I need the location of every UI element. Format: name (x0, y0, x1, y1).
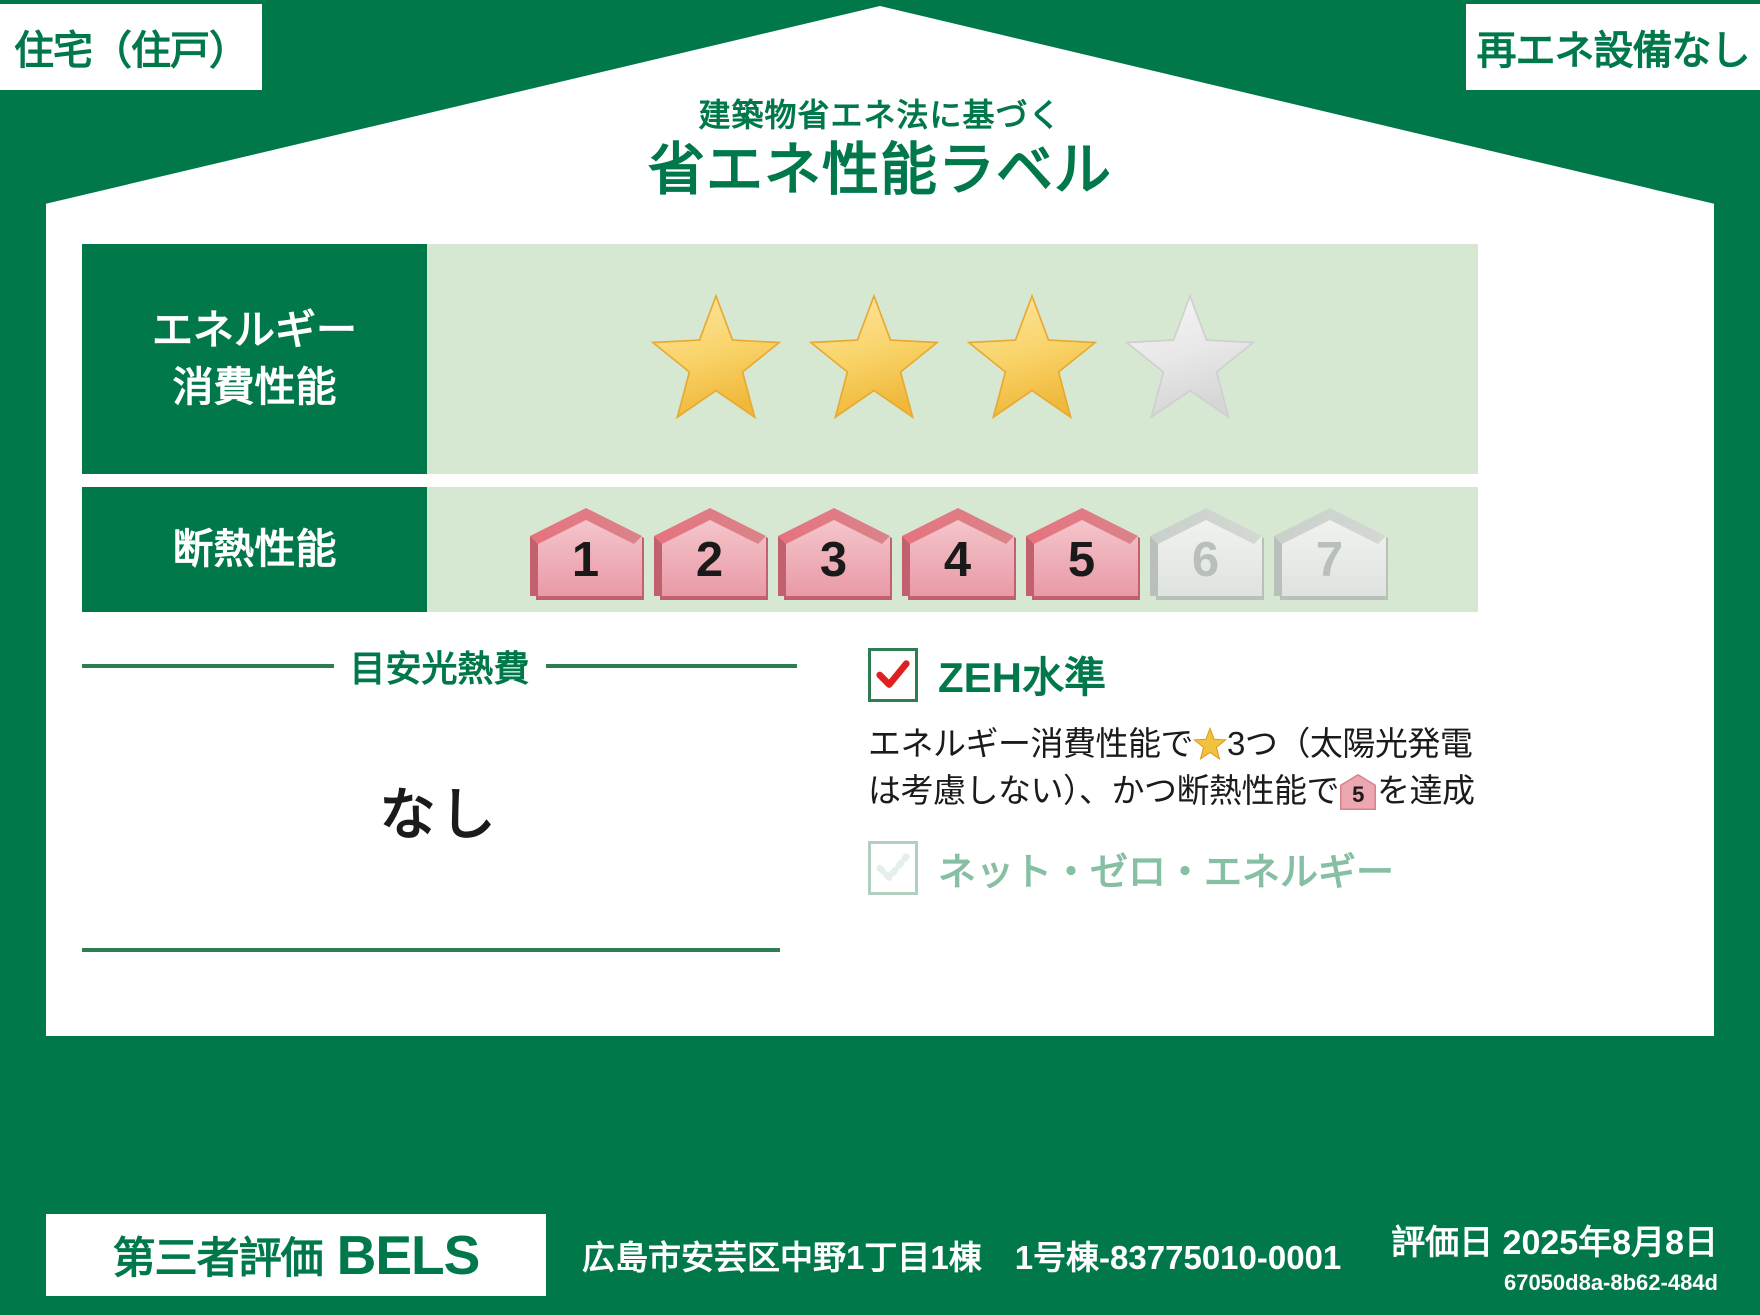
insulation-house-active: 3 (770, 500, 898, 600)
zeh-standard-row: ZEH水準 (868, 644, 1488, 705)
estimated-cost-label: 目安光熱費 (350, 640, 530, 692)
insulation-house-active: 4 (894, 500, 1022, 600)
zeh-desc-part3: を達成 (1377, 772, 1475, 809)
inline-house-icon: 5 (1339, 774, 1377, 810)
zeh-desc-part1: エネルギー消費性能で (868, 725, 1193, 762)
net-zero-energy-row: ネット・ゼロ・エネルギー (868, 841, 1488, 896)
footer-bar: 第三者評価 BELS 広島市安芸区中野1丁目1棟 1号棟-83775010-00… (0, 1195, 1760, 1315)
zeh-checkbox[interactable] (868, 648, 918, 702)
insulation-house-inactive: 7 (1266, 500, 1394, 600)
rating-rows: エネルギー 消費性能 断熱性能 1234567 (82, 244, 1478, 625)
insulation-house-inactive: 6 (1142, 500, 1270, 600)
zeh-standard-label: ZEH水準 (938, 644, 1106, 705)
bels-jp-label: 第三者評価 (113, 1224, 323, 1286)
property-address: 広島市安芸区中野1丁目1棟 1号棟-83775010-0001 (582, 1231, 1341, 1279)
header: 建築物省エネ法に基づく 省エネ性能ラベル (0, 98, 1760, 201)
page-title: 省エネ性能ラベル (0, 141, 1760, 201)
star-icon-filled (646, 289, 786, 429)
energy-performance-row: エネルギー 消費性能 (82, 244, 1478, 474)
estimated-utility-cost-section: 目安光熱費 なし (82, 640, 797, 851)
bels-en-label: BELS (337, 1223, 480, 1287)
badge-renewable-label: 再エネ設備なし (1477, 18, 1750, 76)
star-icon-filled (962, 289, 1102, 429)
evaluation-id: 67050d8a-8b62-484d (1391, 1270, 1718, 1296)
cost-section-bottom-rule (82, 948, 780, 952)
zeh-description: エネルギー消費性能で3つ（太陽光発電は考慮しない）、かつ断熱性能で5を達成 (868, 721, 1488, 815)
star-icon-filled (804, 289, 944, 429)
net-zero-energy-checkbox[interactable] (868, 841, 918, 895)
star-icon-empty (1120, 289, 1260, 429)
insulation-grades-panel: 1234567 (427, 487, 1478, 612)
energy-stars-panel (427, 244, 1478, 474)
checkmark-icon-unchecked (874, 849, 912, 887)
insulation-grade-number: 2 (646, 500, 774, 600)
insulation-grade-number: 3 (770, 500, 898, 600)
energy-performance-label: エネルギー 消費性能 (82, 244, 427, 474)
header-subtitle: 建築物省エネ法に基づく (0, 98, 1760, 133)
insulation-grade-number: 5 (1018, 500, 1146, 600)
energy-label-line2: 消費性能 (173, 359, 337, 416)
evaluation-meta: 評価日 2025年8月8日 67050d8a-8b62-484d (1391, 1215, 1718, 1296)
zeh-desc-part2: は考慮しない）、かつ断熱性能で (868, 772, 1339, 809)
inline-star-icon (1193, 727, 1227, 761)
insulation-grade-scale: 1234567 (516, 500, 1390, 600)
zeh-section: ZEH水準 エネルギー消費性能で3つ（太陽光発電は考慮しない）、かつ断熱性能で5… (868, 644, 1488, 896)
badge-housing-type: 住宅（住戸） (0, 4, 262, 90)
insulation-performance-row: 断熱性能 1234567 (82, 487, 1478, 612)
energy-label-line1: エネルギー (152, 302, 357, 359)
insulation-grade-number: 1 (522, 500, 650, 600)
star-rating (646, 289, 1260, 429)
zeh-desc-star-count: 3つ（太陽光発電 (1227, 725, 1472, 762)
net-zero-energy-label: ネット・ゼロ・エネルギー (938, 841, 1394, 896)
insulation-grade-number: 6 (1142, 500, 1270, 600)
estimated-cost-value: なし (82, 770, 797, 851)
insulation-house-active: 2 (646, 500, 774, 600)
badge-renewable-equipment: 再エネ設備なし (1466, 4, 1760, 90)
inline-house-grade: 5 (1339, 774, 1377, 810)
insulation-house-active: 1 (522, 500, 650, 600)
insulation-label-text: 断熱性能 (173, 521, 337, 578)
evaluation-date: 評価日 2025年8月8日 (1391, 1215, 1718, 1264)
bels-logo: 第三者評価 BELS (46, 1214, 546, 1296)
insulation-grade-number: 7 (1266, 500, 1394, 600)
insulation-house-active: 5 (1018, 500, 1146, 600)
badge-housing-type-label: 住宅（住戸） (14, 18, 248, 76)
insulation-grade-number: 4 (894, 500, 1022, 600)
heading-rule-left (82, 664, 334, 668)
estimated-cost-heading: 目安光熱費 (82, 640, 797, 692)
checkmark-icon (874, 656, 912, 694)
insulation-performance-label: 断熱性能 (82, 487, 427, 612)
heading-rule-right (546, 664, 798, 668)
